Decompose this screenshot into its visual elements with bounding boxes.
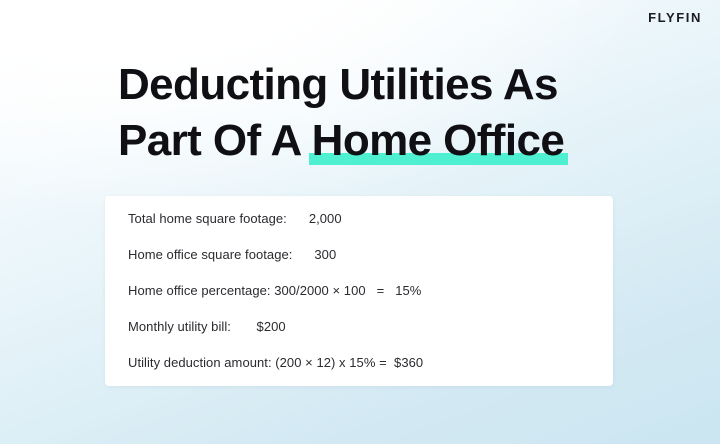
title-line-2-prefix: Part Of A	[118, 116, 312, 165]
card-row-total-home-square-footage: Total home square footage: 2,000	[128, 210, 613, 227]
flyfin-logo: FLYFIN	[648, 11, 702, 24]
calculation-card: Total home square footage: 2,000 Home of…	[105, 196, 613, 386]
title-line-2: Part Of A Home Office	[118, 114, 638, 168]
card-row-utility-deduction-amount: Utility deduction amount: (200 × 12) x 1…	[128, 354, 613, 371]
card-row-monthly-utility-bill: Monthly utility bill: $200	[128, 318, 613, 335]
card-row-home-office-percentage: Home office percentage: 300/2000 × 100 =…	[128, 282, 613, 299]
card-row-home-office-square-footage: Home office square footage: 300	[128, 246, 613, 263]
title-line-1: Deducting Utilities As	[118, 58, 638, 112]
page-title: Deducting Utilities As Part Of A Home Of…	[118, 58, 638, 168]
slide-canvas: FLYFIN Deducting Utilities As Part Of A …	[0, 0, 720, 444]
title-highlight-group: Home Office	[312, 114, 565, 168]
title-line-2-highlight: Home Office	[312, 116, 565, 165]
